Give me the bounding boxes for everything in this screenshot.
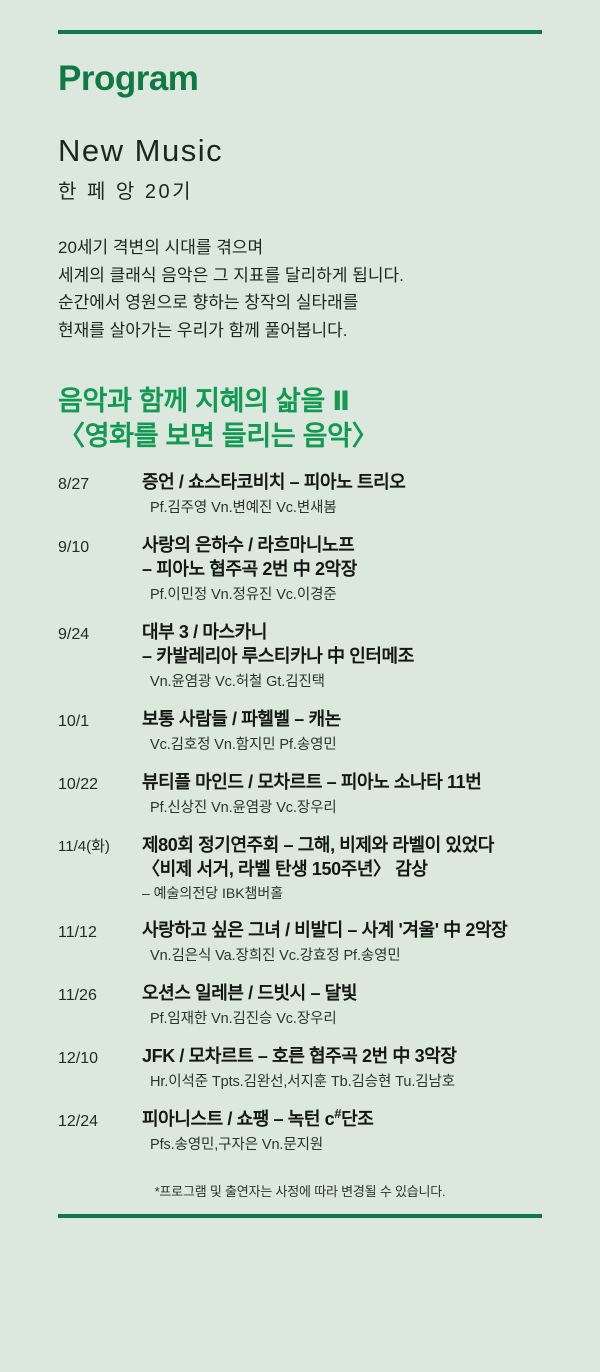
- entry-performers: Vn.김은식 Va.장희진 Vc.강효정 Pf.송영민: [150, 946, 566, 966]
- program-entry: 9/10 사랑의 은하수 / 라흐마니노프 – 피아노 협주곡 2번 中 2악장…: [58, 534, 566, 605]
- intro-line: 현재를 살아가는 우리가 함께 풀어봅니다.: [58, 317, 542, 345]
- entry-body: JFK / 모차르트 – 호른 협주곡 2번 中 3악장 Hr.이석준 Tpts…: [142, 1045, 566, 1092]
- entry-title: 대부 3 / 마스카니: [142, 621, 566, 645]
- entry-performers: Pfs.송영민,구자은 Vn.문지원: [150, 1135, 566, 1155]
- intro-line: 순간에서 영원으로 향하는 창작의 실타래를: [58, 289, 542, 317]
- entry-date: 9/10: [58, 534, 142, 559]
- intro-line: 세계의 클래식 음악은 그 지표를 달리하게 됩니다.: [58, 262, 542, 290]
- intro-paragraph: 20세기 격변의 시대를 겪으며 세계의 클래식 음악은 그 지표를 달리하게 …: [0, 234, 600, 344]
- entry-body: 오션스 일레븐 / 드빗시 – 달빛 Pf.임재한 Vn.김진승 Vc.장우리: [142, 982, 566, 1029]
- entry-performers: Pf.신상진 Vn.윤염광 Vc.장우리: [150, 798, 566, 818]
- entry-body: 피아니스트 / 쇼팽 – 녹턴 c#단조 Pfs.송영민,구자은 Vn.문지원: [142, 1108, 566, 1155]
- series-heading: 음악과 함께 지혜의 삶을 Ⅱ 〈영화를 보면 들리는 음악〉: [0, 384, 600, 453]
- entry-date: 12/24: [58, 1108, 142, 1133]
- subtitle-korean: 한 페 앙 20기: [58, 175, 542, 204]
- entry-date: 11/26: [58, 982, 142, 1007]
- entry-performers: Pf.임재한 Vn.김진승 Vc.장우리: [150, 1009, 566, 1029]
- series-heading-line2: 〈영화를 보면 들리는 음악〉: [58, 419, 542, 454]
- program-entry: 8/27 증언 / 쇼스타코비치 – 피아노 트리오 Pf.김주영 Vn.변예진…: [58, 471, 566, 518]
- entry-title: 피아니스트 / 쇼팽 – 녹턴 c#단조: [142, 1108, 566, 1132]
- entry-title-continuation: – 피아노 협주곡 2번 中 2악장: [142, 558, 566, 582]
- entry-date: 8/27: [58, 471, 142, 496]
- program-poster: Program New Music 한 페 앙 20기 20세기 격변의 시대를…: [0, 30, 600, 1372]
- entry-date: 11/12: [58, 919, 142, 944]
- program-entry: 11/26 오션스 일레븐 / 드빗시 – 달빛 Pf.임재한 Vn.김진승 V…: [58, 982, 566, 1029]
- entry-date: 11/4(화): [58, 834, 142, 858]
- top-divider: [58, 30, 542, 34]
- entry-body: 보통 사람들 / 파헬벨 – 캐논 Vc.김호정 Vn.함지민 Pf.송영민: [142, 708, 566, 755]
- subtitle-english: New Music: [58, 133, 542, 169]
- program-entry: 11/12 사랑하고 싶은 그녀 / 비발디 – 사계 '겨울' 中 2악장 V…: [58, 919, 566, 966]
- entry-title-continuation: – 카발레리아 루스티카나 中 인터메조: [142, 645, 566, 669]
- program-entry: 9/24 대부 3 / 마스카니 – 카발레리아 루스티카나 中 인터메조 Vn…: [58, 621, 566, 692]
- intro-line: 20세기 격변의 시대를 겪으며: [58, 234, 542, 262]
- program-entry: 12/24 피아니스트 / 쇼팽 – 녹턴 c#단조 Pfs.송영민,구자은 V…: [58, 1108, 566, 1155]
- entry-date: 12/10: [58, 1045, 142, 1070]
- entry-date: 9/24: [58, 621, 142, 646]
- entry-body: 대부 3 / 마스카니 – 카발레리아 루스티카나 中 인터메조 Vn.윤염광 …: [142, 621, 566, 692]
- entry-title: 제80회 정기연주회 – 그해, 비제와 라벨이 있었다: [142, 834, 566, 858]
- poster-header: Program New Music 한 페 앙 20기: [0, 60, 600, 204]
- footnote: *프로그램 및 출연자는 사정에 따라 변경될 수 있습니다.: [0, 1181, 600, 1200]
- entry-date: 10/22: [58, 771, 142, 796]
- entry-body: 제80회 정기연주회 – 그해, 비제와 라벨이 있었다 〈비제 서거, 라벨 …: [142, 834, 566, 903]
- entry-title-pre: 피아니스트 / 쇼팽 – 녹턴 c: [142, 1109, 334, 1129]
- program-entry: 12/10 JFK / 모차르트 – 호른 협주곡 2번 中 3악장 Hr.이석…: [58, 1045, 566, 1092]
- entry-title: 증언 / 쇼스타코비치 – 피아노 트리오: [142, 471, 566, 495]
- entry-performers: Pf.김주영 Vn.변예진 Vc.변새봄: [150, 498, 566, 518]
- program-entry: 10/1 보통 사람들 / 파헬벨 – 캐논 Vc.김호정 Vn.함지민 Pf.…: [58, 708, 566, 755]
- entry-date: 10/1: [58, 708, 142, 733]
- entry-body: 뷰티플 마인드 / 모차르트 – 피아노 소나타 11번 Pf.신상진 Vn.윤…: [142, 771, 566, 818]
- entry-title: 보통 사람들 / 파헬벨 – 캐논: [142, 708, 566, 732]
- entry-venue: – 예술의전당 IBK챔버홀: [142, 884, 566, 904]
- entry-title: 뷰티플 마인드 / 모차르트 – 피아노 소나타 11번: [142, 771, 566, 795]
- entry-title: 사랑하고 싶은 그녀 / 비발디 – 사계 '겨울' 中 2악장: [142, 919, 566, 943]
- program-entry: 11/4(화) 제80회 정기연주회 – 그해, 비제와 라벨이 있었다 〈비제…: [58, 834, 566, 903]
- program-list: 8/27 증언 / 쇼스타코비치 – 피아노 트리오 Pf.김주영 Vn.변예진…: [0, 471, 600, 1155]
- entry-title-continuation: 〈비제 서거, 라벨 탄생 150주년〉 감상: [142, 858, 566, 882]
- entry-performers: Vc.김호정 Vn.함지민 Pf.송영민: [150, 735, 566, 755]
- entry-performers: Hr.이석준 Tpts.김완선,서지훈 Tb.김승현 Tu.김남호: [150, 1072, 566, 1092]
- entry-performers: Pf.이민정 Vn.정유진 Vc.이경준: [150, 585, 566, 605]
- entry-body: 사랑하고 싶은 그녀 / 비발디 – 사계 '겨울' 中 2악장 Vn.김은식 …: [142, 919, 566, 966]
- entry-title: 오션스 일레븐 / 드빗시 – 달빛: [142, 982, 566, 1006]
- entry-body: 사랑의 은하수 / 라흐마니노프 – 피아노 협주곡 2번 中 2악장 Pf.이…: [142, 534, 566, 605]
- entry-title: 사랑의 은하수 / 라흐마니노프: [142, 534, 566, 558]
- bottom-divider: [58, 1214, 542, 1218]
- program-entry: 10/22 뷰티플 마인드 / 모차르트 – 피아노 소나타 11번 Pf.신상…: [58, 771, 566, 818]
- entry-performers: Vn.윤염광 Vc.허철 Gt.김진택: [150, 672, 566, 692]
- entry-title-post: 단조: [341, 1109, 373, 1129]
- entry-body: 증언 / 쇼스타코비치 – 피아노 트리오 Pf.김주영 Vn.변예진 Vc.변…: [142, 471, 566, 518]
- page-title: Program: [58, 60, 542, 99]
- entry-title: JFK / 모차르트 – 호른 협주곡 2번 中 3악장: [142, 1045, 566, 1069]
- series-heading-line1: 음악과 함께 지혜의 삶을 Ⅱ: [58, 384, 542, 419]
